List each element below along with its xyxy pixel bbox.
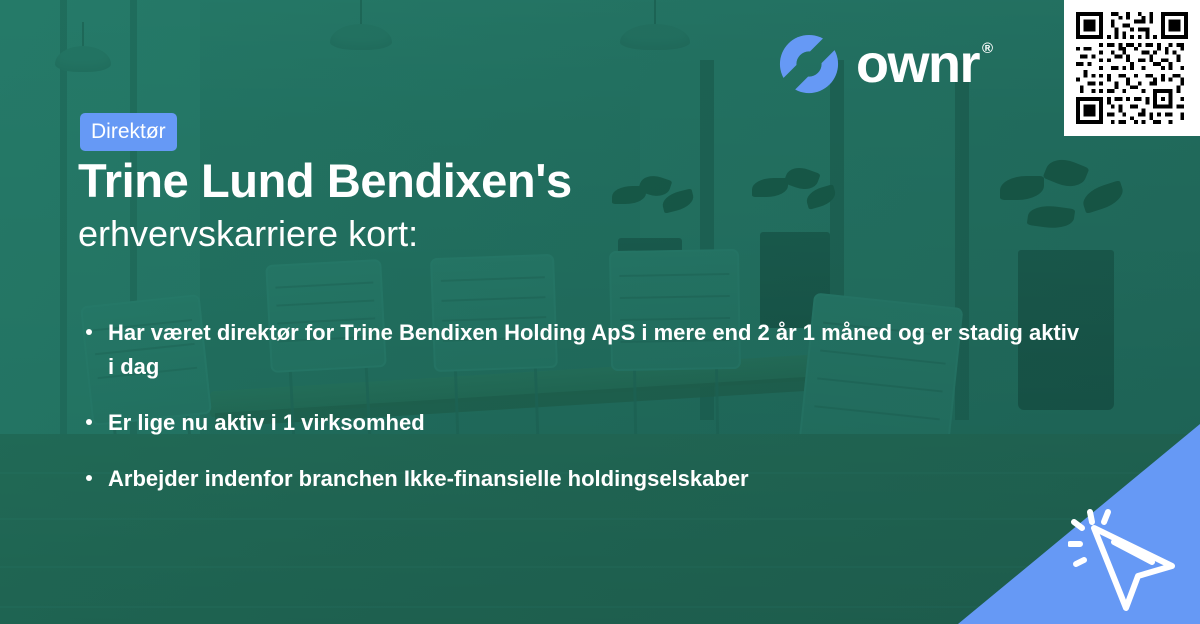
page-title-name: Trine Lund Bendixen's (78, 155, 978, 208)
bullet-dot-icon (86, 475, 92, 481)
bullet-dot-icon (86, 329, 92, 335)
ownr-logo[interactable]: ownr® (778, 33, 990, 95)
ownr-circle-swirl-icon (778, 33, 840, 95)
career-card: ownr® Direktør Trine Lund Bendixen's erh… (0, 0, 1200, 624)
qr-code-icon[interactable] (1064, 0, 1200, 136)
teal-gradient-overlay (0, 0, 1200, 624)
list-item: Er lige nu aktiv i 1 virksomhed (80, 406, 1080, 440)
registered-trademark-icon: ® (982, 40, 993, 57)
page-title: Trine Lund Bendixen's erhvervskarriere k… (78, 155, 978, 255)
role-badge: Direktør (80, 113, 177, 151)
click-cursor-icon (1068, 506, 1188, 616)
list-item-text: Har været direktør for Trine Bendixen Ho… (108, 320, 1079, 379)
ownr-wordmark-text: ownr (856, 34, 979, 94)
bullet-dot-icon (86, 419, 92, 425)
career-fact-list: Har været direktør for Trine Bendixen Ho… (80, 316, 1080, 496)
list-item: Har været direktør for Trine Bendixen Ho… (80, 316, 1080, 384)
list-item: Arbejder indenfor branchen Ikke-finansie… (80, 462, 1080, 496)
list-item-text: Er lige nu aktiv i 1 virksomhed (108, 410, 425, 435)
list-item-text: Arbejder indenfor branchen Ikke-finansie… (108, 466, 749, 491)
ownr-wordmark: ownr® (856, 37, 990, 91)
page-title-subtitle: erhvervskarriere kort: (78, 212, 978, 255)
